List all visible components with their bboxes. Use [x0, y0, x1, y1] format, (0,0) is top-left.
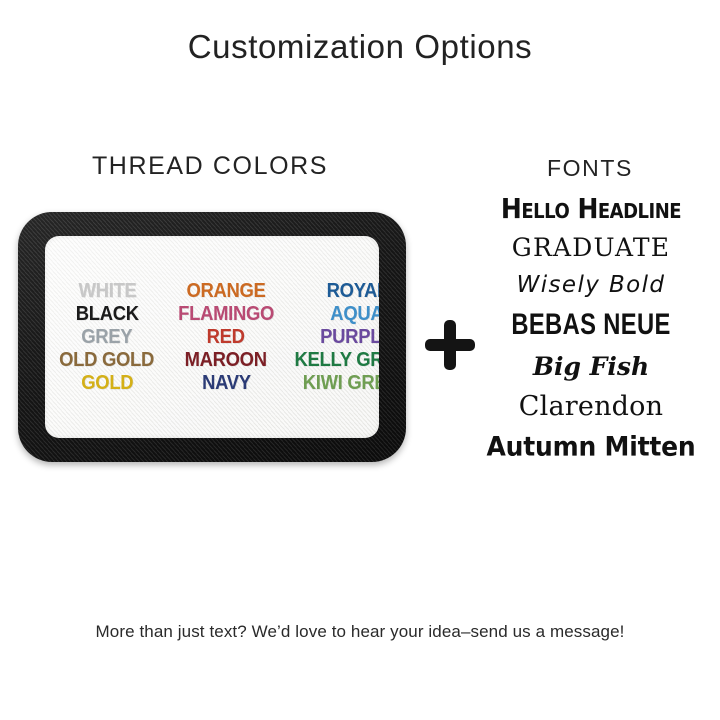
- font-option-hello-headline[interactable]: Hello Headline: [470, 195, 712, 223]
- swatch-kelly-green[interactable]: KELLY GREEN: [294, 349, 379, 372]
- page-title: Customization Options: [0, 28, 720, 66]
- swatch-red[interactable]: RED: [207, 326, 245, 349]
- footer-note: More than just text? We’d love to hear y…: [0, 622, 720, 642]
- fonts-heading: FONTS: [470, 155, 710, 182]
- swatch-column-1: WHITE BLACK GREY OLD GOLD GOLD: [47, 280, 167, 395]
- swatch-columns: WHITE BLACK GREY OLD GOLD GOLD ORANGE FL…: [45, 236, 379, 438]
- swatch-kiwi-green[interactable]: KIWI GREEN: [303, 372, 379, 395]
- thread-colors-heading: THREAD COLORS: [30, 152, 390, 181]
- swatch-maroon[interactable]: MAROON: [185, 349, 267, 372]
- swatch-aqua[interactable]: AQUA: [330, 303, 379, 326]
- fonts-list: Hello Headline GRADUATE Wisely Bold BEBA…: [470, 196, 712, 459]
- font-option-autumn-mitten[interactable]: Autumn Mitten: [470, 433, 712, 460]
- swatch-black[interactable]: BLACK: [75, 303, 138, 326]
- font-option-wisely-bold[interactable]: Wisely Bold: [470, 274, 712, 297]
- font-option-graduate[interactable]: GRADUATE: [470, 235, 712, 260]
- swatch-orange[interactable]: ORANGE: [186, 280, 265, 303]
- swatch-grey[interactable]: GREY: [81, 326, 132, 349]
- plus-icon: [425, 320, 475, 370]
- swatch-gold[interactable]: GOLD: [81, 372, 133, 395]
- font-option-bebas-neue[interactable]: BEBAS NEUE: [485, 310, 698, 340]
- font-option-clarendon[interactable]: Clarendon: [470, 393, 712, 420]
- swatch-purple[interactable]: PURPLE: [321, 326, 379, 349]
- font-option-big-fish[interactable]: Big Fish: [470, 354, 712, 379]
- swatch-navy[interactable]: NAVY: [202, 372, 251, 395]
- swatch-old-gold[interactable]: OLD GOLD: [60, 349, 155, 372]
- customization-options-page: { "page": { "title": "Customization Opti…: [0, 0, 720, 720]
- swatch-white[interactable]: WHITE: [78, 280, 136, 303]
- patch-border: WHITE BLACK GREY OLD GOLD GOLD ORANGE FL…: [18, 212, 406, 462]
- swatch-column-2: ORANGE FLAMINGO RED MAROON NAVY: [167, 280, 285, 395]
- thread-colors-patch: WHITE BLACK GREY OLD GOLD GOLD ORANGE FL…: [18, 212, 406, 462]
- swatch-column-3: ROYAL AQUA PURPLE KELLY GREEN KIWI GREEN: [285, 280, 379, 395]
- swatch-royal[interactable]: ROYAL: [326, 280, 379, 303]
- patch-fabric: WHITE BLACK GREY OLD GOLD GOLD ORANGE FL…: [45, 236, 379, 438]
- swatch-flamingo[interactable]: FLAMINGO: [178, 303, 274, 326]
